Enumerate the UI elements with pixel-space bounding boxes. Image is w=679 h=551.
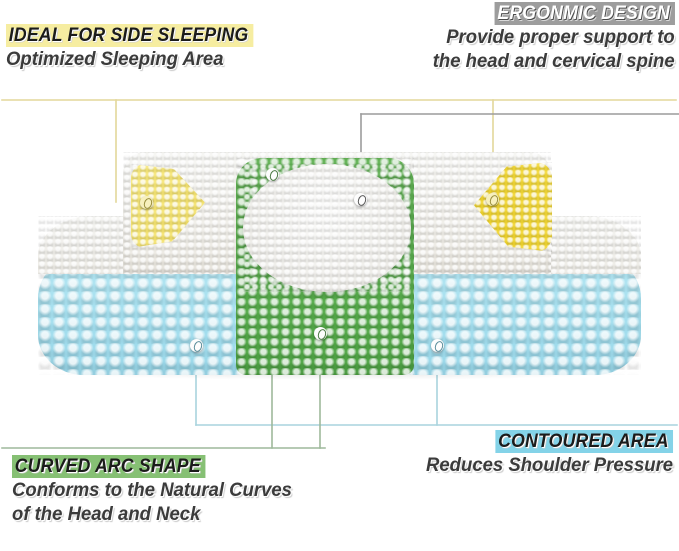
callout-ergonomic-design: ERGONMIC DESIGN Provide proper support t… (420, 2, 675, 73)
marker-right-yellow-wedge (486, 193, 499, 206)
callout-subtitle-curved-arc-shape-line-2: of the Head and Neck (12, 502, 292, 526)
marker-green-column (314, 327, 327, 340)
marker-left-yellow-wedge (140, 196, 153, 209)
callout-curved-arc-shape: CURVED ARC SHAPE Conforms to the Natural… (12, 455, 307, 526)
callout-subtitle-ergonomic-design-line-2: the head and cervical spine (433, 49, 675, 73)
callout-title-curved-arc-shape: CURVED ARC SHAPE (12, 455, 205, 478)
region-grey-head-cradle (243, 164, 411, 292)
callout-title-ergonomic-design: ERGONMIC DESIGN (495, 2, 675, 25)
callout-subtitle-curved-arc-shape-line-1: Conforms to the Natural Curves (12, 478, 292, 502)
marker-head-cradle (354, 193, 367, 206)
callout-subtitle-ideal-for-side-sleeping: Optimized Sleeping Area (6, 47, 258, 71)
callout-ideal-for-side-sleeping: IDEAL FOR SIDE SLEEPING Optimized Sleepi… (6, 24, 272, 71)
callout-contoured-area: CONTOURED AREA Reduces Shoulder Pressure (413, 430, 673, 477)
callout-title-contoured-area: CONTOURED AREA (495, 430, 673, 453)
pillow-illustration (38, 152, 641, 375)
marker-green-arc-top (266, 168, 279, 181)
infographic-canvas: IDEAL FOR SIDE SLEEPING Optimized Sleepi… (0, 0, 679, 551)
callout-subtitle-ergonomic-design-line-1: Provide proper support to (433, 25, 675, 49)
marker-cyan-left (190, 339, 203, 352)
texture-bubble-cradle (243, 164, 411, 292)
callout-subtitle-contoured-area: Reduces Shoulder Pressure (426, 453, 673, 477)
callout-title-ideal-for-side-sleeping: IDEAL FOR SIDE SLEEPING (6, 24, 253, 47)
marker-cyan-right (431, 339, 444, 352)
